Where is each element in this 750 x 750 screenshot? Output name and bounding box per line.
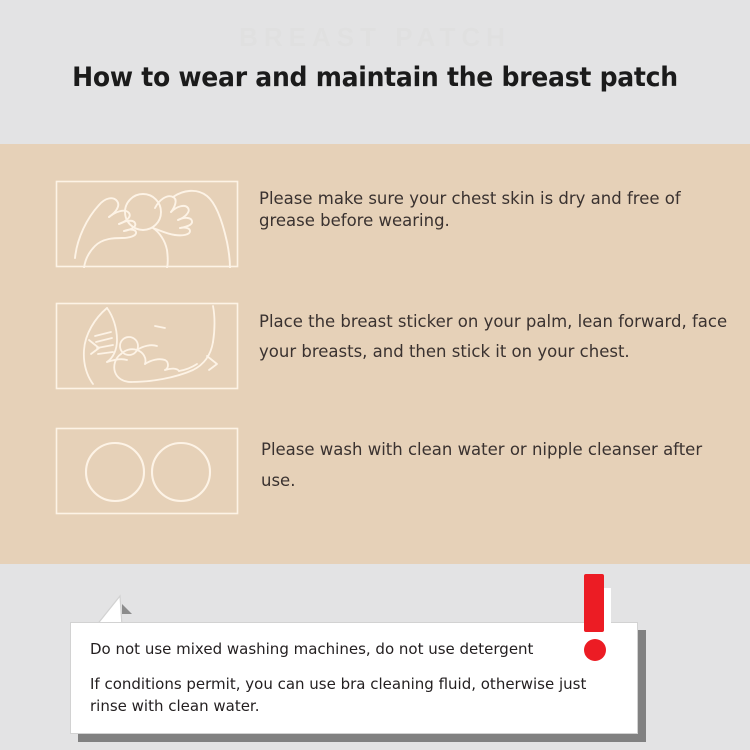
callout-line-2: If conditions permit, you can use bra cl… (90, 674, 610, 717)
instruction-step-1-text: Please make sure your chest skin is dry … (259, 180, 728, 232)
callout-body: Do not use mixed washing machines, do no… (90, 639, 623, 717)
instruction-step-3-text: Please wash with clean water or nipple c… (259, 427, 728, 496)
instruction-step-2-text: Place the breast sticker on your palm, l… (259, 302, 728, 366)
infographic-page: BREAST PATCH How to wear and maintain th… (0, 0, 750, 750)
watermark-text: BREAST PATCH (0, 22, 750, 53)
callout-line-1: Do not use mixed washing machines, do no… (90, 639, 623, 660)
applying-patch-to-chest-illustration (55, 302, 239, 390)
page-title: How to wear and maintain the breast patc… (26, 62, 724, 93)
hands-peeling-patch-illustration (55, 180, 239, 268)
warning-callout: Do not use mixed washing machines, do no… (70, 622, 638, 734)
two-patches-illustration (55, 427, 239, 515)
instruction-step-2: Place the breast sticker on your palm, l… (0, 302, 750, 390)
header-band: BREAST PATCH How to wear and maintain th… (0, 0, 750, 144)
instruction-step-1: Please make sure your chest skin is dry … (0, 180, 750, 268)
instruction-step-3: Please wash with clean water or nipple c… (0, 427, 750, 515)
instructions-band: Please make sure your chest skin is dry … (0, 144, 750, 564)
exclamation-mark-icon (576, 572, 622, 668)
